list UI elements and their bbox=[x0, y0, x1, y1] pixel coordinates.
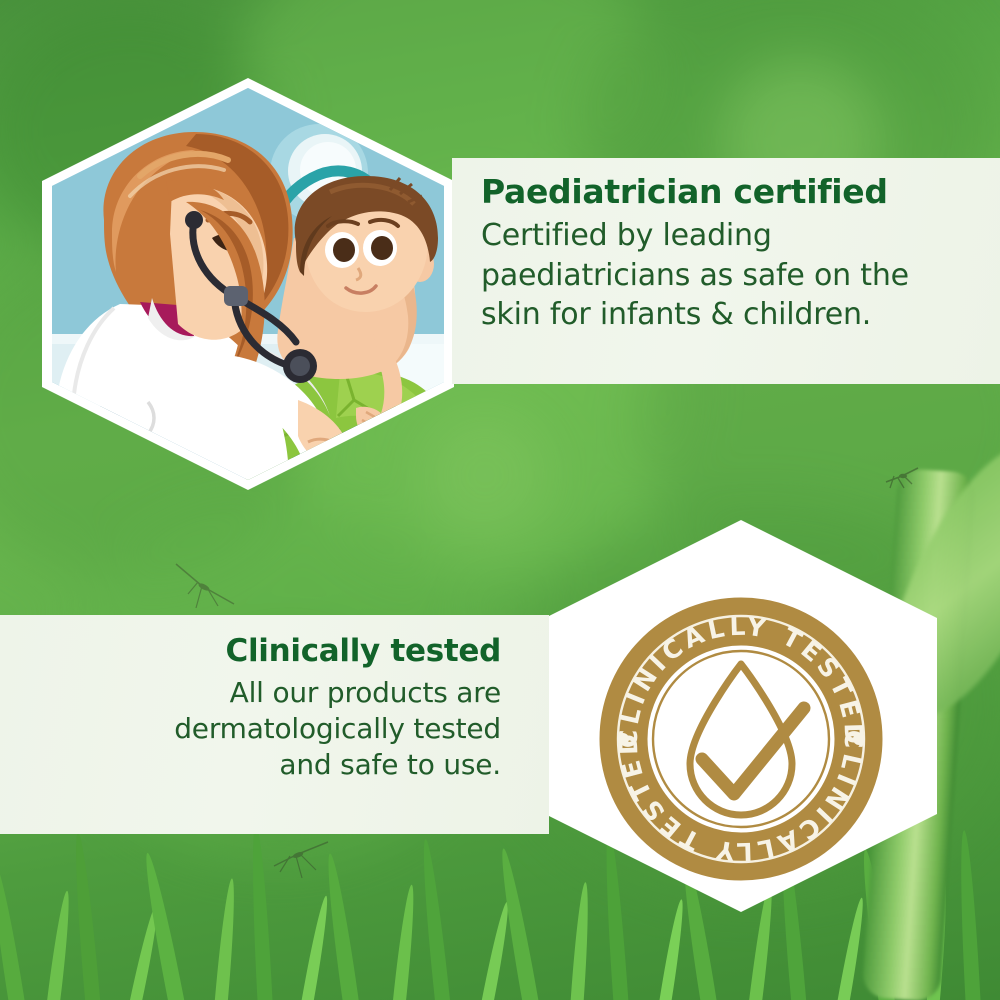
clinically-tested-seal: CLINICALLY TESTED CLINICALLY TESTED bbox=[598, 596, 884, 882]
body-line: paediatricians as safe on the bbox=[481, 256, 978, 295]
body-line: and safe to use. bbox=[18, 747, 501, 783]
water-drop-with-checkmark-icon bbox=[690, 664, 804, 815]
mosquito-icon bbox=[880, 462, 924, 496]
clinically-tested-headline: Clinically tested bbox=[18, 633, 501, 671]
infographic-canvas: CLINICALLY TESTED CLINICALLY TESTED Paed… bbox=[0, 0, 1000, 1000]
mosquito-icon bbox=[172, 560, 252, 622]
mosquito-icon bbox=[272, 836, 342, 892]
clinically-tested-body: All our products are dermatologically te… bbox=[18, 675, 501, 783]
clinically-tested-card: Clinically tested All our products are d… bbox=[0, 615, 549, 834]
paediatrician-certified-headline: Paediatrician certified bbox=[481, 172, 978, 212]
paediatrician-certified-body: Certified by leading paediatricians as s… bbox=[481, 216, 978, 334]
badge-separator-dot bbox=[853, 733, 865, 745]
body-line: All our products are bbox=[18, 675, 501, 711]
paediatrician-certified-card: Paediatrician certified Certified by lea… bbox=[452, 158, 1000, 384]
stethoscope-icon bbox=[148, 206, 378, 406]
body-line: dermatologically tested bbox=[18, 711, 501, 747]
body-line: Certified by leading bbox=[481, 216, 978, 255]
body-line: skin for infants & children. bbox=[481, 295, 978, 334]
badge-separator-dot bbox=[617, 733, 629, 745]
